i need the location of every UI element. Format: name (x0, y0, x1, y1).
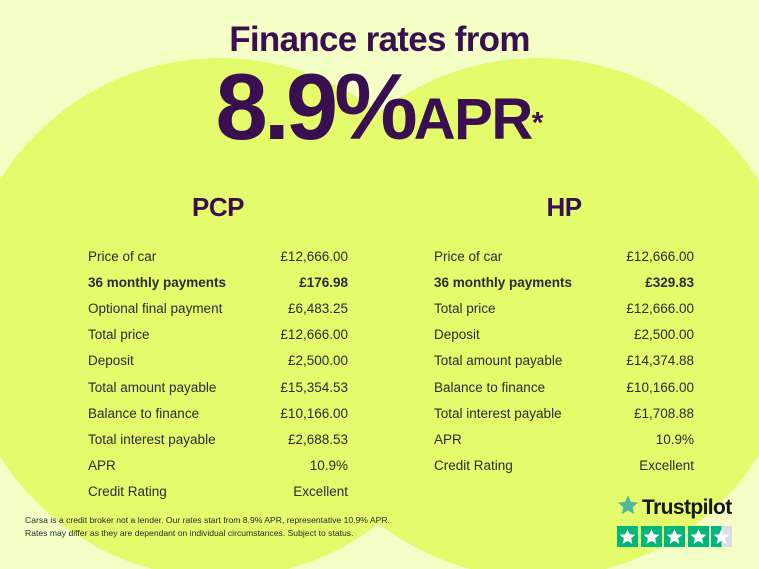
disclaimer-line-2: Rates may differ as they are dependant o… (25, 527, 445, 540)
apr-label: APR (414, 87, 532, 152)
trustpilot-star-full-icon (617, 526, 638, 547)
trustpilot-star-full-icon (664, 526, 685, 547)
row-label: Total amount payable (434, 353, 562, 368)
row-label: 36 monthly payments (434, 275, 572, 290)
trustpilot-star-icon (617, 494, 639, 521)
trustpilot-rating-stars (617, 526, 737, 547)
trustpilot-star-full-icon (688, 526, 709, 547)
row-label: Total interest payable (434, 406, 562, 421)
row-label: Total price (434, 301, 496, 316)
row-label: Price of car (434, 249, 502, 264)
row-value: 10.9% (656, 432, 694, 447)
row-label: Total interest payable (88, 432, 216, 447)
table-row: 36 monthly payments£176.98 (88, 269, 348, 295)
table-row: Balance to finance£10,166.00 (88, 400, 348, 426)
row-value: £1,708.88 (634, 406, 694, 421)
row-label: Price of car (88, 249, 156, 264)
table-row: Credit RatingExcellent (434, 453, 694, 479)
disclaimer-line-1: Carsa is a credit broker not a lender. O… (25, 514, 445, 527)
row-label: 36 monthly payments (88, 275, 226, 290)
row-value: £12,666.00 (280, 327, 348, 342)
table-row: Deposit£2,500.00 (88, 348, 348, 374)
row-value: £329.83 (645, 275, 694, 290)
row-label: Credit Rating (434, 458, 513, 473)
table-row: Total amount payable£14,374.88 (434, 348, 694, 374)
trustpilot-badge[interactable]: Trustpilot (617, 494, 737, 547)
table-row: 36 monthly payments£329.83 (434, 269, 694, 295)
row-label: Total price (88, 327, 150, 342)
row-value: Excellent (639, 458, 694, 473)
table-row: APR10.9% (434, 426, 694, 452)
row-label: Balance to finance (434, 380, 545, 395)
table-row: Deposit£2,500.00 (434, 322, 694, 348)
table-row: Credit RatingExcellent (88, 479, 348, 505)
row-value: £2,500.00 (288, 353, 348, 368)
finance-column-hp: HP Price of car£12,666.0036 monthly paym… (434, 192, 694, 479)
table-row: Balance to finance£10,166.00 (434, 374, 694, 400)
trustpilot-star-full-icon (641, 526, 662, 547)
row-label: Total amount payable (88, 380, 216, 395)
disclaimer-text: Carsa is a credit broker not a lender. O… (25, 514, 445, 541)
row-value: Excellent (293, 484, 348, 499)
table-row: Total amount payable£15,354.53 (88, 374, 348, 400)
row-label: Optional final payment (88, 301, 222, 316)
row-value: £12,666.00 (626, 301, 694, 316)
row-value: 10.9% (310, 458, 348, 473)
table-row: Total interest payable£2,688.53 (88, 426, 348, 452)
row-label: Balance to finance (88, 406, 199, 421)
row-value: £2,688.53 (288, 432, 348, 447)
column-title-pcp: PCP (88, 192, 348, 223)
row-value: £176.98 (299, 275, 348, 290)
table-row: APR10.9% (88, 453, 348, 479)
row-value: £15,354.53 (280, 380, 348, 395)
table-row: Total price£12,666.00 (434, 295, 694, 321)
asterisk-marker: * (532, 107, 544, 140)
trustpilot-wordmark: Trustpilot (642, 496, 732, 520)
table-row: Total price£12,666.00 (88, 322, 348, 348)
row-label: APR (88, 458, 116, 473)
finance-column-pcp: PCP Price of car£12,666.0036 monthly pay… (88, 192, 348, 505)
row-label: Deposit (434, 327, 480, 342)
row-label: APR (434, 432, 462, 447)
row-value: £14,374.88 (626, 353, 694, 368)
rate-value: 8.9% (216, 54, 414, 159)
row-label: Credit Rating (88, 484, 167, 499)
row-value: £12,666.00 (626, 249, 694, 264)
table-row: Price of car£12,666.00 (434, 243, 694, 269)
row-value: £10,166.00 (626, 380, 694, 395)
row-value: £6,483.25 (288, 301, 348, 316)
row-value: £2,500.00 (634, 327, 694, 342)
table-row: Optional final payment£6,483.25 (88, 295, 348, 321)
column-title-hp: HP (434, 192, 694, 223)
rate-display: 8.9%APR* (0, 60, 759, 154)
table-row: Price of car£12,666.00 (88, 243, 348, 269)
promo-graphic: Finance rates from 8.9%APR* PCP Price of… (0, 0, 759, 569)
finance-table-pcp: Price of car£12,666.0036 monthly payment… (88, 243, 348, 505)
trustpilot-star-half-icon (711, 526, 732, 547)
finance-table-hp: Price of car£12,666.0036 monthly payment… (434, 243, 694, 479)
row-label: Deposit (88, 353, 134, 368)
row-value: £12,666.00 (280, 249, 348, 264)
table-row: Total interest payable£1,708.88 (434, 400, 694, 426)
row-value: £10,166.00 (280, 406, 348, 421)
